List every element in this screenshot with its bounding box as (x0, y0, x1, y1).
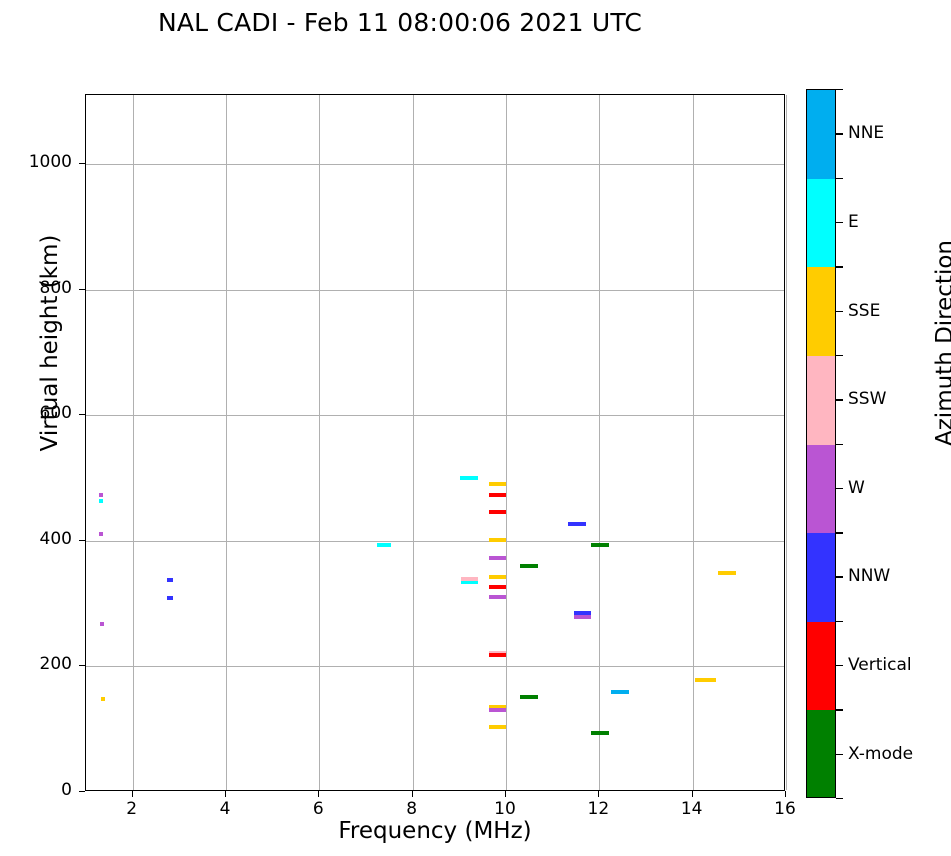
colorbar-tick (836, 754, 843, 755)
data-point (99, 532, 103, 536)
data-point (377, 543, 391, 547)
colorbar-boundary-tick (836, 621, 843, 622)
y-axis-tick (79, 163, 85, 164)
colorbar-tick (836, 222, 843, 223)
colorbar-boundary-tick (836, 178, 843, 179)
x-axis-tick-label: 14 (662, 799, 722, 819)
y-axis-tick (79, 540, 85, 541)
data-point (591, 543, 609, 547)
gridline-vertical (319, 95, 320, 790)
y-axis-tick (79, 665, 85, 666)
colorbar-segment-e (807, 179, 835, 268)
colorbar-label-w: W (848, 478, 865, 498)
data-point (461, 580, 479, 584)
data-point (520, 564, 538, 568)
data-point (489, 653, 507, 657)
data-point (100, 622, 104, 626)
colorbar-segment-nnw (807, 533, 835, 622)
data-point (489, 595, 507, 599)
colorbar-label-vertical: Vertical (848, 655, 912, 675)
colorbar-tick (836, 311, 843, 312)
data-point (101, 697, 105, 701)
x-axis-tick-label: 12 (568, 799, 628, 819)
x-axis-tick-label: 4 (195, 799, 255, 819)
x-axis-tick-label: 10 (475, 799, 535, 819)
colorbar (806, 89, 836, 798)
x-axis-tick (318, 791, 319, 797)
data-point (489, 538, 507, 542)
y-axis-label: Virtual height (km) (37, 143, 63, 543)
colorbar-boundary-tick (836, 709, 843, 710)
x-axis-tick-label: 8 (382, 799, 442, 819)
gridline-vertical (786, 95, 787, 790)
data-point (568, 522, 586, 526)
colorbar-label-sse: SSE (848, 301, 880, 321)
gridline-vertical (226, 95, 227, 790)
x-axis-tick (505, 791, 506, 797)
colorbar-segment-sse (807, 267, 835, 356)
data-point (574, 611, 592, 615)
y-axis-tick (79, 414, 85, 415)
data-point (99, 499, 103, 503)
colorbar-title: Azimuth Direction (932, 143, 951, 543)
x-axis-label: Frequency (MHz) (85, 818, 785, 844)
colorbar-segment-w (807, 445, 835, 534)
x-axis-tick (692, 791, 693, 797)
gridline-vertical (599, 95, 600, 790)
y-axis-tick-label: 0 (0, 780, 72, 800)
data-point (489, 575, 507, 579)
data-point (718, 571, 736, 575)
colorbar-tick (836, 576, 843, 577)
page-title: NAL CADI - Feb 11 08:00:06 2021 UTC (0, 8, 800, 37)
data-point (489, 585, 507, 589)
x-axis-tick (225, 791, 226, 797)
data-point (695, 678, 716, 682)
data-point (489, 510, 507, 514)
colorbar-segment-vertical (807, 622, 835, 711)
gridline-horizontal (86, 290, 784, 291)
data-point (489, 482, 507, 486)
colorbar-tick (836, 665, 843, 666)
data-point (489, 493, 507, 497)
data-point (489, 556, 507, 560)
colorbar-segment-nne (807, 90, 835, 179)
data-point (489, 725, 507, 729)
ionogram-figure: NAL CADI - Feb 11 08:00:06 2021 UTC 2468… (0, 0, 951, 856)
gridline-vertical (413, 95, 414, 790)
colorbar-tick (836, 399, 843, 400)
x-axis-tick (598, 791, 599, 797)
colorbar-segment-ssw (807, 356, 835, 445)
data-point (167, 578, 173, 582)
colorbar-label-nnw: NNW (848, 566, 890, 586)
colorbar-boundary-tick (836, 89, 843, 90)
data-point (99, 493, 103, 497)
x-axis-tick (412, 791, 413, 797)
gridline-horizontal (86, 415, 784, 416)
colorbar-boundary-tick (836, 532, 843, 533)
data-point (460, 476, 478, 480)
data-point (489, 708, 507, 712)
colorbar-boundary-tick (836, 798, 843, 799)
colorbar-tick (836, 488, 843, 489)
gridline-vertical (693, 95, 694, 790)
plot-area (85, 94, 785, 791)
gridline-vertical (506, 95, 507, 790)
data-point (461, 577, 479, 581)
gridline-horizontal (86, 164, 784, 165)
colorbar-segment-x-mode (807, 710, 835, 798)
x-axis-tick-label: 2 (102, 799, 162, 819)
data-point (167, 596, 173, 600)
colorbar-label-e: E (848, 212, 859, 232)
colorbar-boundary-tick (836, 266, 843, 267)
x-axis-tick (785, 791, 786, 797)
data-point (611, 690, 629, 694)
data-point (574, 615, 592, 619)
gridline-horizontal (86, 541, 784, 542)
gridline-horizontal (86, 666, 784, 667)
x-axis-tick-label: 6 (288, 799, 348, 819)
data-point (591, 731, 609, 735)
x-axis-tick-label: 16 (755, 799, 815, 819)
colorbar-tick (836, 133, 843, 134)
y-axis-tick (79, 289, 85, 290)
x-axis-tick (132, 791, 133, 797)
colorbar-boundary-tick (836, 444, 843, 445)
colorbar-label-ssw: SSW (848, 389, 886, 409)
colorbar-label-x-mode: X-mode (848, 744, 913, 764)
colorbar-label-nne: NNE (848, 123, 884, 143)
data-point (520, 695, 538, 699)
gridline-vertical (133, 95, 134, 790)
y-axis-tick-label: 200 (0, 654, 72, 674)
y-axis-tick (79, 791, 85, 792)
colorbar-boundary-tick (836, 355, 843, 356)
